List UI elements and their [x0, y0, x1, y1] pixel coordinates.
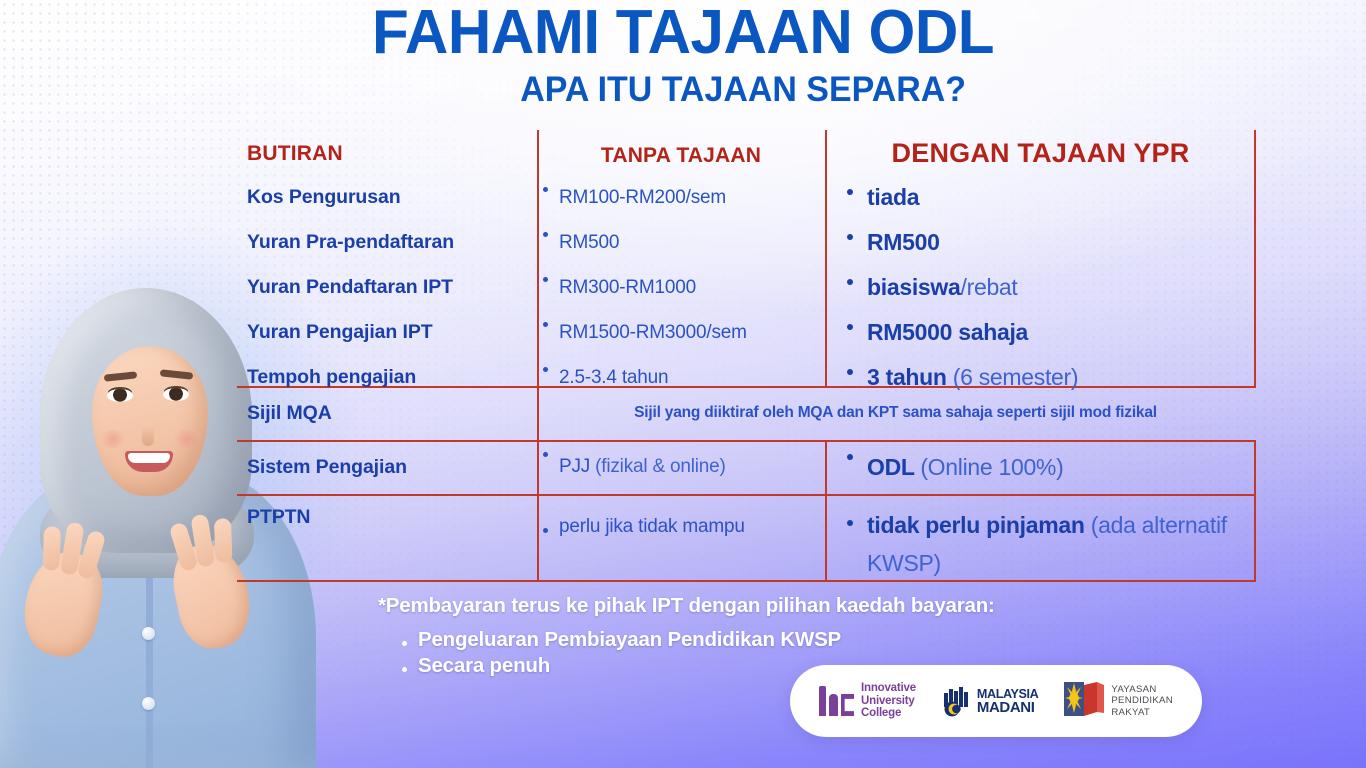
- table-row-sistem-pengajian: Sistem Pengajian PJJ (fizikal & online) …: [237, 440, 1256, 494]
- table-row-label: Sijil MQA: [237, 386, 537, 440]
- iuc-monogram-icon: [819, 686, 854, 716]
- list-item: perlu jika tidak mampu: [537, 516, 825, 538]
- list-item: RM5000 sahaja: [841, 310, 1256, 355]
- face-cheek: [172, 430, 202, 448]
- madani-logo-text: MALAYSIA MADANI: [977, 687, 1038, 716]
- finger: [214, 518, 233, 563]
- column-header-butiran: BUTIRAN: [237, 130, 537, 169]
- column-header-dengan-tajaan: DENGAN TAJAAN YPR: [825, 130, 1256, 169]
- list-item: biasiswa/rebat: [841, 265, 1256, 310]
- list-item: tiada: [841, 175, 1256, 220]
- partner-logo-bar: Innovative University College: [790, 665, 1202, 737]
- tanpa-tajaan-column: RM100-RM200/sem RM500 RM300-RM1000 RM150…: [537, 175, 825, 400]
- table-body-top: Kos Pengurusan Yuran Pra-pendaftaran Yur…: [237, 175, 1256, 400]
- dengan-tajaan-list: tiada RM500 biasiswa/rebat RM5000 sahaja…: [841, 175, 1256, 400]
- cell-value-suffix: (fizikal & online): [595, 456, 726, 477]
- face-teeth: [128, 453, 170, 463]
- cell-value: RM300-RM1000: [559, 277, 696, 298]
- list-item: RM100-RM200/sem: [537, 175, 825, 220]
- table-row-label: Kos Pengurusan: [237, 175, 537, 220]
- table-row-ptptn: PTPTN perlu jika tidak mampu tidak perlu…: [237, 494, 1256, 580]
- tanpa-tajaan-cell: perlu jika tidak mampu: [537, 494, 825, 580]
- list-item: tidak perlu pinjaman (ada alternatif KWS…: [841, 506, 1256, 582]
- dengan-tajaan-cell: tidak perlu pinjaman (ada alternatif KWS…: [825, 494, 1256, 580]
- face-eye: [163, 388, 189, 401]
- list-item: RM500: [841, 220, 1256, 265]
- list-item: ODL (Online 100%): [841, 440, 1256, 494]
- tanpa-tajaan-list: RM100-RM200/sem RM500 RM300-RM1000 RM150…: [537, 175, 825, 400]
- madani-line-2: MADANI: [977, 699, 1035, 716]
- cell-value: tidak perlu pinjaman: [867, 512, 1091, 538]
- footnote-heading: *Pembayaran terus ke pihak IPT dengan pi…: [378, 594, 1138, 618]
- table-row-sijil-mqa: Sijil MQA Sijil yang diiktiraf oleh MQA …: [237, 386, 1256, 440]
- face-nose: [142, 426, 154, 446]
- ypr-book-flag-icon: [1064, 682, 1104, 721]
- cell-value-suffix: /rebat: [961, 274, 1018, 300]
- comparison-table: BUTIRAN TANPA TAJAAN DENGAN TAJAAN YPR K…: [237, 130, 1256, 580]
- cell-value: ODL: [867, 454, 920, 480]
- ypr-line-3: RAKYAT: [1111, 707, 1150, 718]
- page-title: FAHAMI TAJAAN ODL: [20, 2, 1345, 64]
- list-item: PJJ (fizikal & online): [537, 440, 825, 494]
- tanpa-tajaan-cell: PJJ (fizikal & online): [537, 440, 825, 494]
- cell-value: perlu jika tidak mampu: [559, 516, 745, 537]
- cell-value: 2.5-3.4 tahun: [559, 367, 668, 388]
- butiran-label-column: Kos Pengurusan Yuran Pra-pendaftaran Yur…: [237, 175, 537, 400]
- malaysia-madani-logo: MALAYSIA MADANI: [942, 685, 1038, 717]
- dengan-tajaan-cell: ODL (Online 100%): [825, 440, 1256, 494]
- iuc-logo: Innovative University College: [819, 682, 916, 719]
- tanpa-tajaan-list: perlu jika tidak mampu: [537, 516, 825, 538]
- cell-value: biasiswa: [867, 274, 961, 300]
- model-face: [92, 346, 208, 496]
- table-row-label: Sistem Pengajian: [237, 440, 537, 494]
- cell-value: RM1500-RM3000/sem: [559, 322, 747, 343]
- shirt-button: [142, 697, 155, 710]
- list-item: RM1500-RM3000/sem: [537, 310, 825, 355]
- iuc-line-3: College: [861, 707, 901, 719]
- table-row-label: PTPTN: [237, 494, 537, 580]
- face-cheek: [98, 430, 128, 448]
- table-header-row: BUTIRAN TANPA TAJAAN DENGAN TAJAAN YPR: [237, 130, 1256, 169]
- list-item: RM500: [537, 220, 825, 265]
- cell-value: RM100-RM200/sem: [559, 187, 726, 208]
- tanpa-tajaan-list: PJJ (fizikal & online): [537, 440, 825, 494]
- dengan-tajaan-list: tidak perlu pinjaman (ada alternatif KWS…: [841, 506, 1256, 582]
- cell-value: RM500: [867, 229, 940, 255]
- ypr-line-1: YAYASAN: [1111, 684, 1156, 695]
- dengan-tajaan-list: ODL (Online 100%): [841, 440, 1256, 494]
- table-row-label: Yuran Pengajian IPT: [237, 310, 537, 355]
- cell-value: RM5000 sahaja: [867, 319, 1028, 345]
- shirt-button: [142, 627, 155, 640]
- finger: [43, 526, 62, 571]
- column-header-tanpa-tajaan: TANPA TAJAAN: [537, 130, 825, 169]
- ypr-logo: YAYASAN PENDIDIKAN RAKYAT: [1064, 682, 1173, 721]
- face-eye: [107, 389, 133, 402]
- page-subtitle: APA ITU TAJAAN SEPARA?: [20, 70, 1345, 110]
- ypr-logo-text: YAYASAN PENDIDIKAN RAKYAT: [1111, 684, 1173, 719]
- table-row-label: Yuran Pendaftaran IPT: [237, 265, 537, 310]
- iuc-line-1: Innovative: [861, 682, 916, 694]
- table-row-label: Yuran Pra-pendaftaran: [237, 220, 537, 265]
- poster-canvas: FAHAMI TAJAAN ODL APA ITU TAJAAN SEPARA?…: [0, 0, 1366, 768]
- cell-value: PJJ: [559, 456, 595, 477]
- cell-value: RM500: [559, 232, 619, 253]
- ypr-line-2: PENDIDIKAN: [1111, 695, 1173, 706]
- poster-title-block: FAHAMI TAJAAN ODL APA ITU TAJAAN SEPARA?: [0, 2, 1366, 110]
- iuc-line-2: University: [861, 695, 915, 707]
- dengan-tajaan-column: tiada RM500 biasiswa/rebat RM5000 sahaja…: [825, 175, 1256, 400]
- sijil-mqa-merged-text: Sijil yang diiktiraf oleh MQA dan KPT sa…: [537, 386, 1254, 440]
- list-item: RM300-RM1000: [537, 265, 825, 310]
- cell-value-suffix: (Online 100%): [920, 454, 1063, 480]
- madani-tower-icon: [942, 685, 970, 717]
- iuc-logo-text: Innovative University College: [861, 682, 916, 719]
- cell-value: tiada: [867, 184, 919, 210]
- list-item: Pengeluaran Pembiayaan Pendidikan KWSP: [396, 628, 1138, 652]
